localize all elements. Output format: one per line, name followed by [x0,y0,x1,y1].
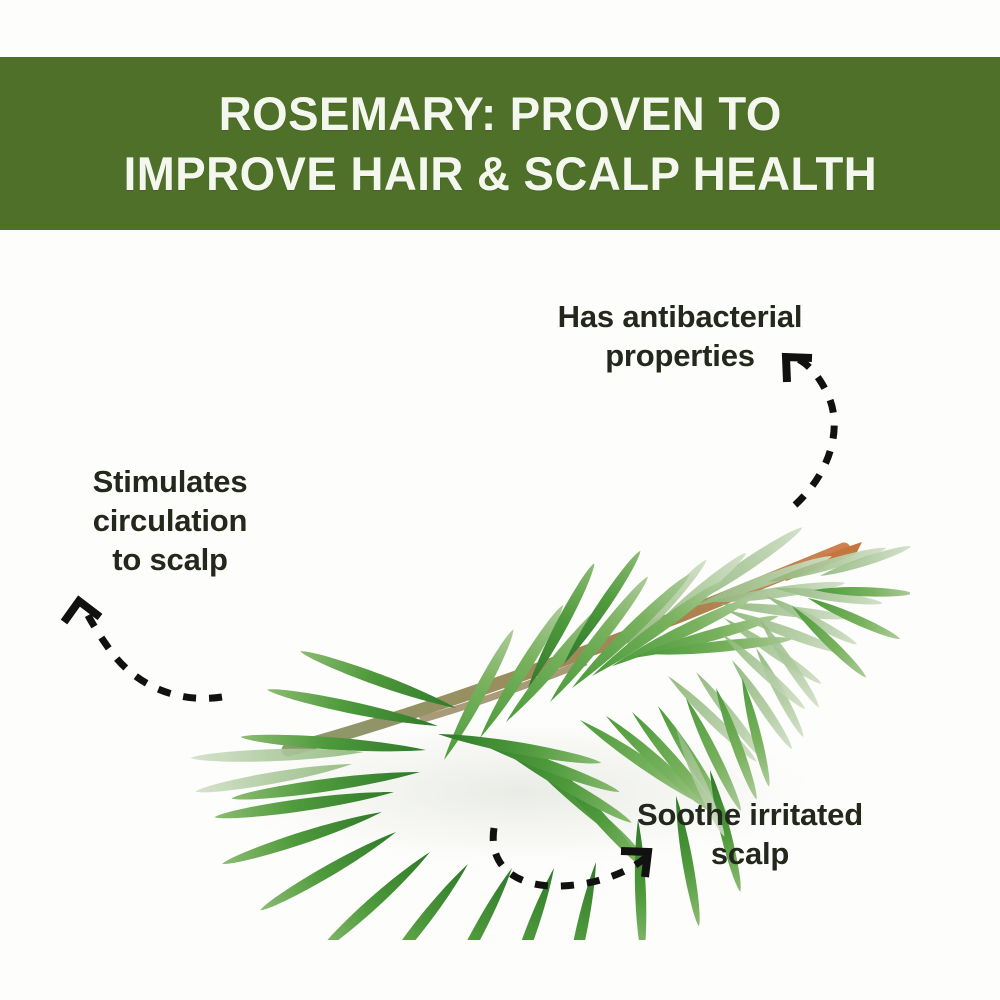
label-soothe-line-1: Soothe irritated [590,795,910,834]
label-antibacterial-line-1: Has antibacterial [505,297,855,336]
label-antibacterial-line-2: properties [505,336,855,375]
infographic-root: ROSEMARY: PROVEN TO IMPROVE HAIR & SCALP… [0,0,1000,1000]
label-stimulates-line-2: circulation [45,501,295,540]
banner-title-line-2: IMPROVE HAIR & SCALP HEALTH [123,144,877,204]
label-has-antibacterial-properties: Has antibacterial properties [505,297,855,375]
header-banner: ROSEMARY: PROVEN TO IMPROVE HAIR & SCALP… [0,57,1000,230]
label-soothe-line-2: scalp [590,834,910,873]
label-soothe-irritated-scalp: Soothe irritated scalp [590,795,910,873]
banner-title-line-1: ROSEMARY: PROVEN TO [218,84,781,144]
label-stimulates-line-1: Stimulates [45,462,295,501]
label-stimulates-line-3: to scalp [45,540,295,579]
label-stimulates-circulation-to-scalp: Stimulates circulation to scalp [45,462,295,579]
